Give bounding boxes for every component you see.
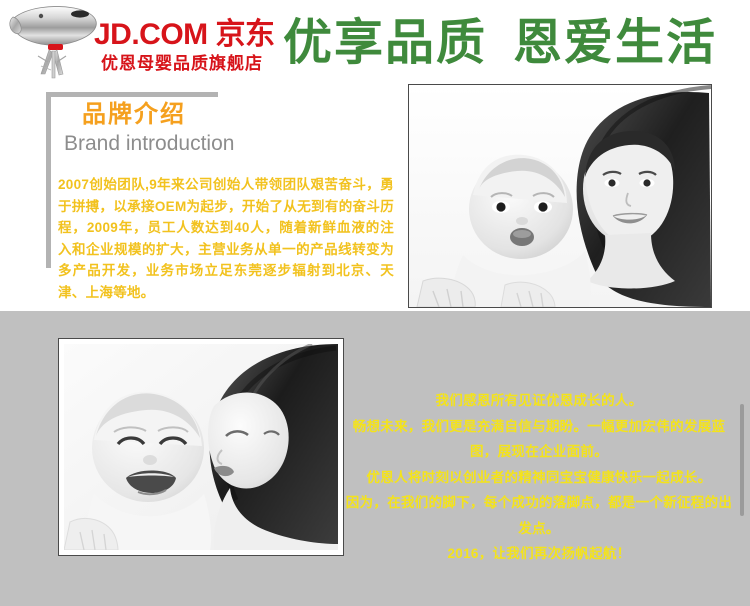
closing-line: 2016，让我们再次扬帆起航！ <box>343 541 735 567</box>
shop-name-text: 优恩母婴品质旗舰店 <box>94 53 270 75</box>
jd-mascot-metal-bird-icon <box>8 4 100 80</box>
closing-line: 因为，在我们的脚下，每个成功的落脚点，都是一个新征程的出发点。 <box>343 490 735 541</box>
closing-line: 优恩人将时刻以创业者的精神同宝宝健康快乐一起成长。 <box>343 465 735 491</box>
headline-right-text: 恩爱生活 <box>513 16 717 70</box>
intro-body-text: 2007创始团队,9年来公司创始人带领团队艰苦奋斗，勇于拼搏，以承接OEM为起步… <box>58 174 394 303</box>
mother-and-baby-photo <box>408 84 712 308</box>
promo-page: JD.COM 京东 优恩母婴品质旗舰店 优享品质恩爱生活 品牌介绍 Brand … <box>0 0 750 606</box>
jd-logo-text: JD.COM 京东 <box>94 18 270 52</box>
closing-line: 我们感恩所有见证优恩成长的人。 <box>343 388 735 414</box>
jd-brandmark: JD.COM 京东 优恩母婴品质旗舰店 <box>94 18 270 75</box>
scrollbar-thumb[interactable] <box>740 404 744 516</box>
closing-line: 畅想未来，我们更是充满自信与期盼。一幅更加宏伟的发展蓝图，展现在企业面前。 <box>343 414 735 465</box>
intro-title-english: Brand introduction <box>64 131 234 157</box>
intro-title-chinese: 品牌介绍 <box>82 100 186 130</box>
closing-message: 我们感恩所有见证优恩成长的人。 畅想未来，我们更是充满自信与期盼。一幅更加宏伟的… <box>343 388 735 567</box>
mother-kissing-baby-photo <box>58 338 344 556</box>
page-headline: 优享品质恩爱生活 <box>283 14 717 72</box>
headline-left-text: 优享品质 <box>283 16 487 70</box>
page-header: JD.COM 京东 优恩母婴品质旗舰店 优享品质恩爱生活 <box>0 0 750 88</box>
